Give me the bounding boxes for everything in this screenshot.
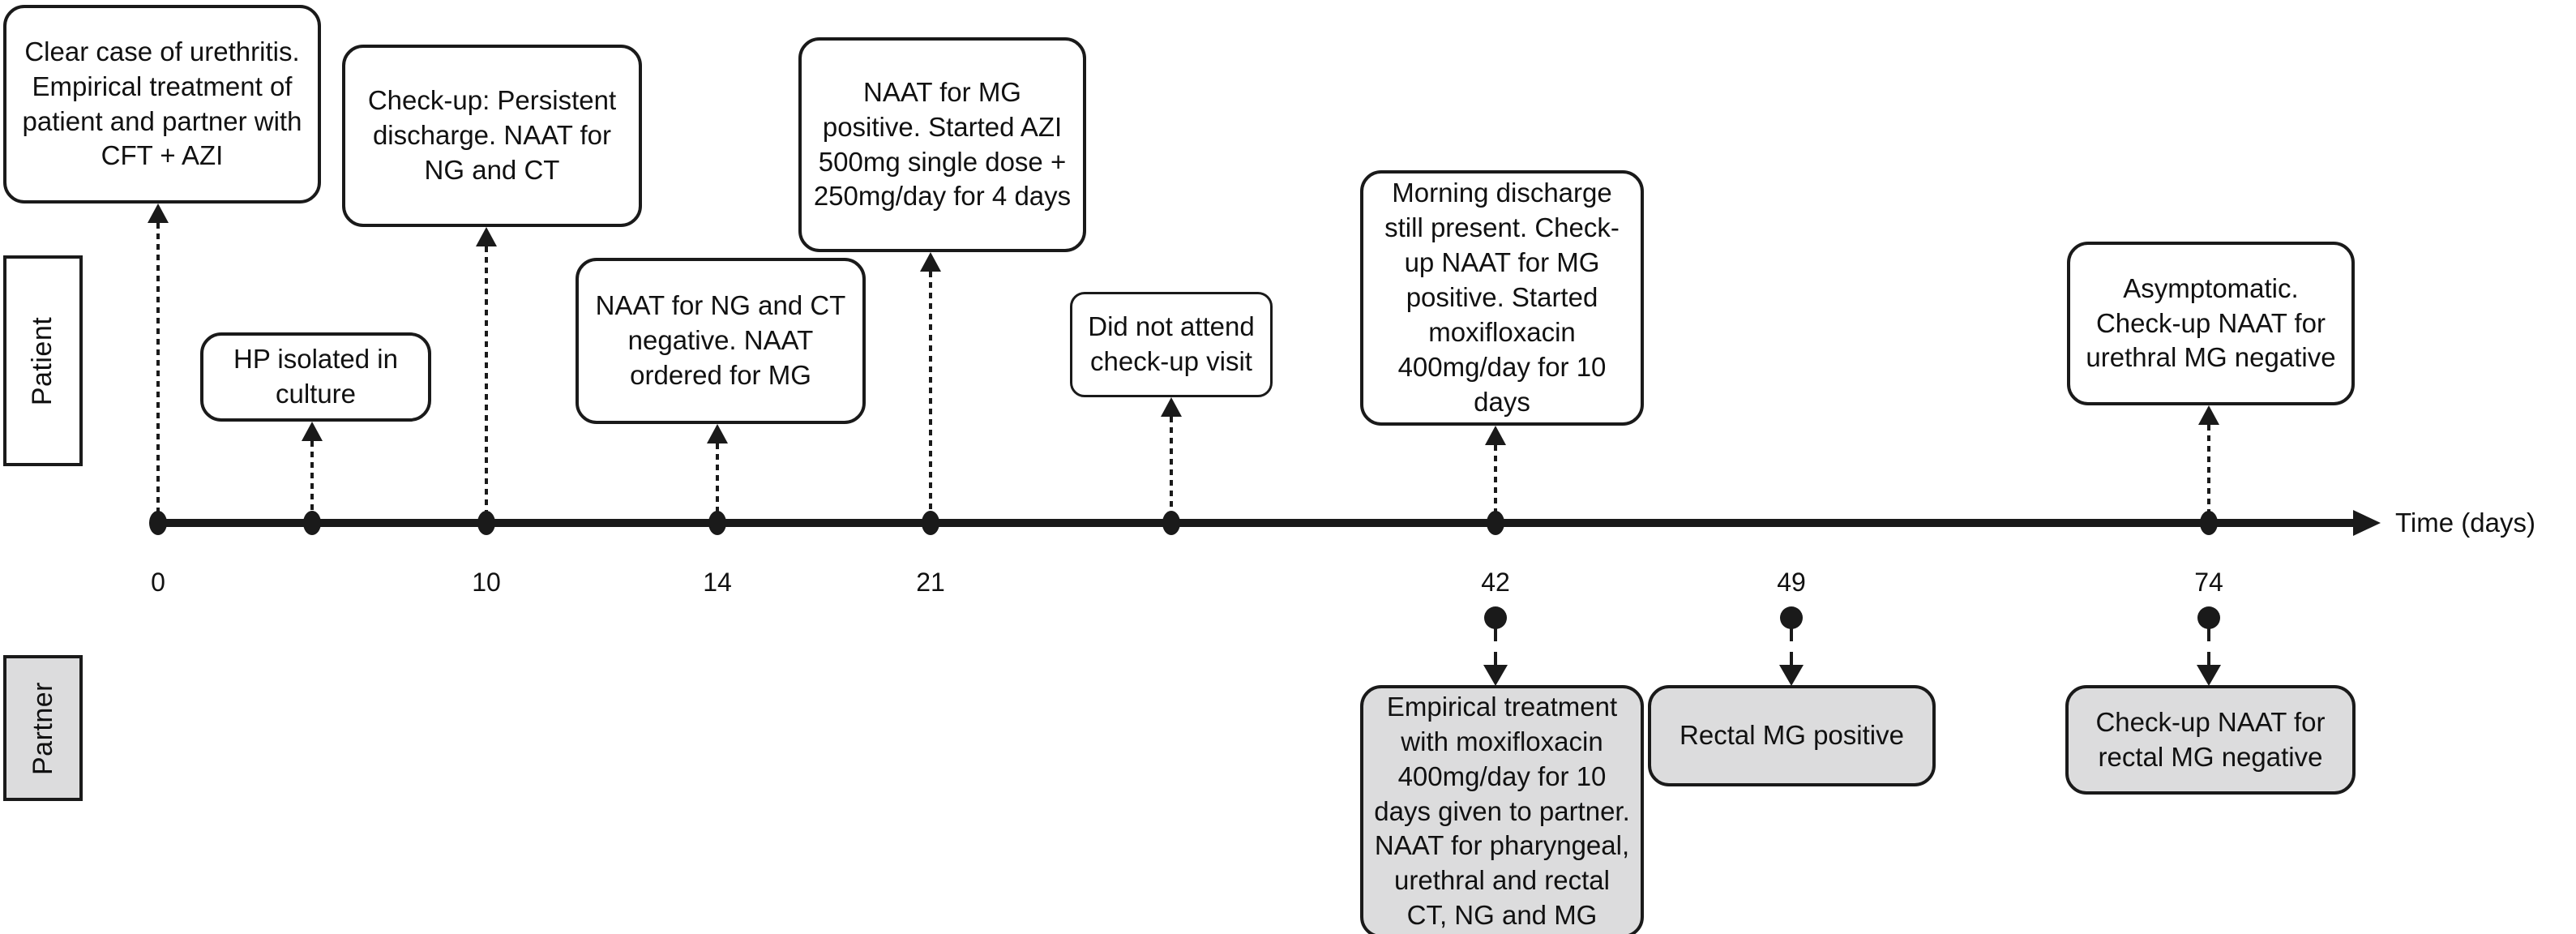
event-box-empirical-moxifloxacin-partner[interactable]: Empirical treatment with moxifloxacin 40… (1360, 685, 1644, 934)
event-box-checkup-persistent-discharge[interactable]: Check-up: Persistent discharge. NAAT for… (342, 45, 642, 227)
arrow-up-icon (302, 422, 323, 441)
arrow-up-icon (2198, 405, 2219, 425)
event-box-naat-mg-positive-azi[interactable]: NAAT for MG positive. Started AZI 500mg … (798, 37, 1086, 252)
axis-arrow-icon (2353, 510, 2381, 536)
lane-label-partner-text: Partner (28, 682, 59, 775)
axis-tick-label: 42 (1481, 568, 1510, 598)
axis-dot (477, 511, 495, 535)
axis-tick-label: 21 (916, 568, 945, 598)
event-box-did-not-attend-checkup[interactable]: Did not attend check-up visit (1070, 292, 1273, 397)
arrow-down-icon (2197, 665, 2221, 686)
timeline-diagram: Patient Partner Clear case of urethritis… (0, 0, 2576, 934)
connector-rectal-mg-positive (1790, 624, 1793, 666)
event-box-hp-isolated-in-culture[interactable]: HP isolated in culture (200, 332, 431, 422)
connector-naat-mg-positive-azi (929, 272, 932, 512)
event-text: Did not attend check-up visit (1082, 310, 1260, 379)
event-text: NAAT for MG positive. Started AZI 500mg … (811, 75, 1073, 215)
event-text: Check-up: Persistent discharge. NAAT for… (355, 84, 629, 188)
axis-dot (149, 511, 167, 535)
arrow-up-icon (1161, 397, 1182, 417)
connector-checkup-naat-rectal-mg-negative (2207, 624, 2210, 666)
event-box-naat-ng-ct-negative[interactable]: NAAT for NG and CT negative. NAAT ordere… (576, 258, 866, 424)
connector-did-not-attend-checkup (1170, 417, 1173, 512)
arrow-down-icon (1483, 665, 1508, 686)
event-text: Morning discharge still present. Check-u… (1373, 176, 1631, 419)
connector-empirical-moxifloxacin-partner (1494, 624, 1497, 666)
axis-label-time: Time (days) (2395, 508, 2535, 538)
connector-morning-discharge-moxifloxacin (1494, 445, 1497, 512)
arrow-up-icon (707, 424, 728, 443)
connector-asymptomatic-urethral-mg-negative (2207, 425, 2210, 512)
arrow-up-icon (920, 252, 941, 272)
arrow-down-icon (1779, 665, 1804, 686)
axis-tick-label: 10 (472, 568, 501, 598)
axis-dot (2200, 511, 2218, 535)
connector-hp-isolated-in-culture (310, 441, 314, 512)
connector-checkup-persistent-discharge (485, 246, 488, 512)
axis-dot (708, 511, 726, 535)
axis-dot (303, 511, 321, 535)
event-text: Asymptomatic. Check-up NAAT for urethral… (2080, 272, 2342, 376)
event-text: HP isolated in culture (213, 342, 418, 412)
axis-dot (1162, 511, 1180, 535)
event-text: Empirical treatment with moxifloxacin 40… (1373, 690, 1631, 933)
axis-dot (922, 511, 939, 535)
arrow-up-icon (476, 227, 497, 246)
lane-label-partner: Partner (3, 655, 83, 801)
lane-label-patient-text: Patient (28, 316, 59, 405)
connector-naat-ng-ct-negative (716, 443, 719, 512)
axis-tick-label: 49 (1777, 568, 1806, 598)
arrow-up-icon (148, 204, 169, 223)
axis-dot (1487, 511, 1504, 535)
event-box-checkup-naat-rectal-mg-negative[interactable]: Check-up NAAT for rectal MG negative (2065, 685, 2356, 795)
axis-tick-label: 74 (2194, 568, 2223, 598)
event-box-morning-discharge-moxifloxacin[interactable]: Morning discharge still present. Check-u… (1360, 170, 1644, 426)
event-box-clear-case-urethritis[interactable]: Clear case of urethritis. Empirical trea… (3, 5, 321, 204)
event-text: NAAT for NG and CT negative. NAAT ordere… (588, 289, 853, 393)
event-text: Check-up NAAT for rectal MG negative (2078, 705, 2343, 775)
connector-clear-case-urethritis (156, 223, 160, 512)
event-text: Clear case of urethritis. Empirical trea… (16, 35, 308, 174)
axis-tick-label: 0 (151, 568, 165, 598)
axis-tick-label: 14 (703, 568, 732, 598)
arrow-up-icon (1485, 426, 1506, 445)
event-box-asymptomatic-urethral-mg-negative[interactable]: Asymptomatic. Check-up NAAT for urethral… (2067, 242, 2355, 405)
event-text: Rectal MG positive (1661, 718, 1923, 753)
event-box-rectal-mg-positive[interactable]: Rectal MG positive (1648, 685, 1936, 786)
lane-label-patient: Patient (3, 255, 83, 466)
